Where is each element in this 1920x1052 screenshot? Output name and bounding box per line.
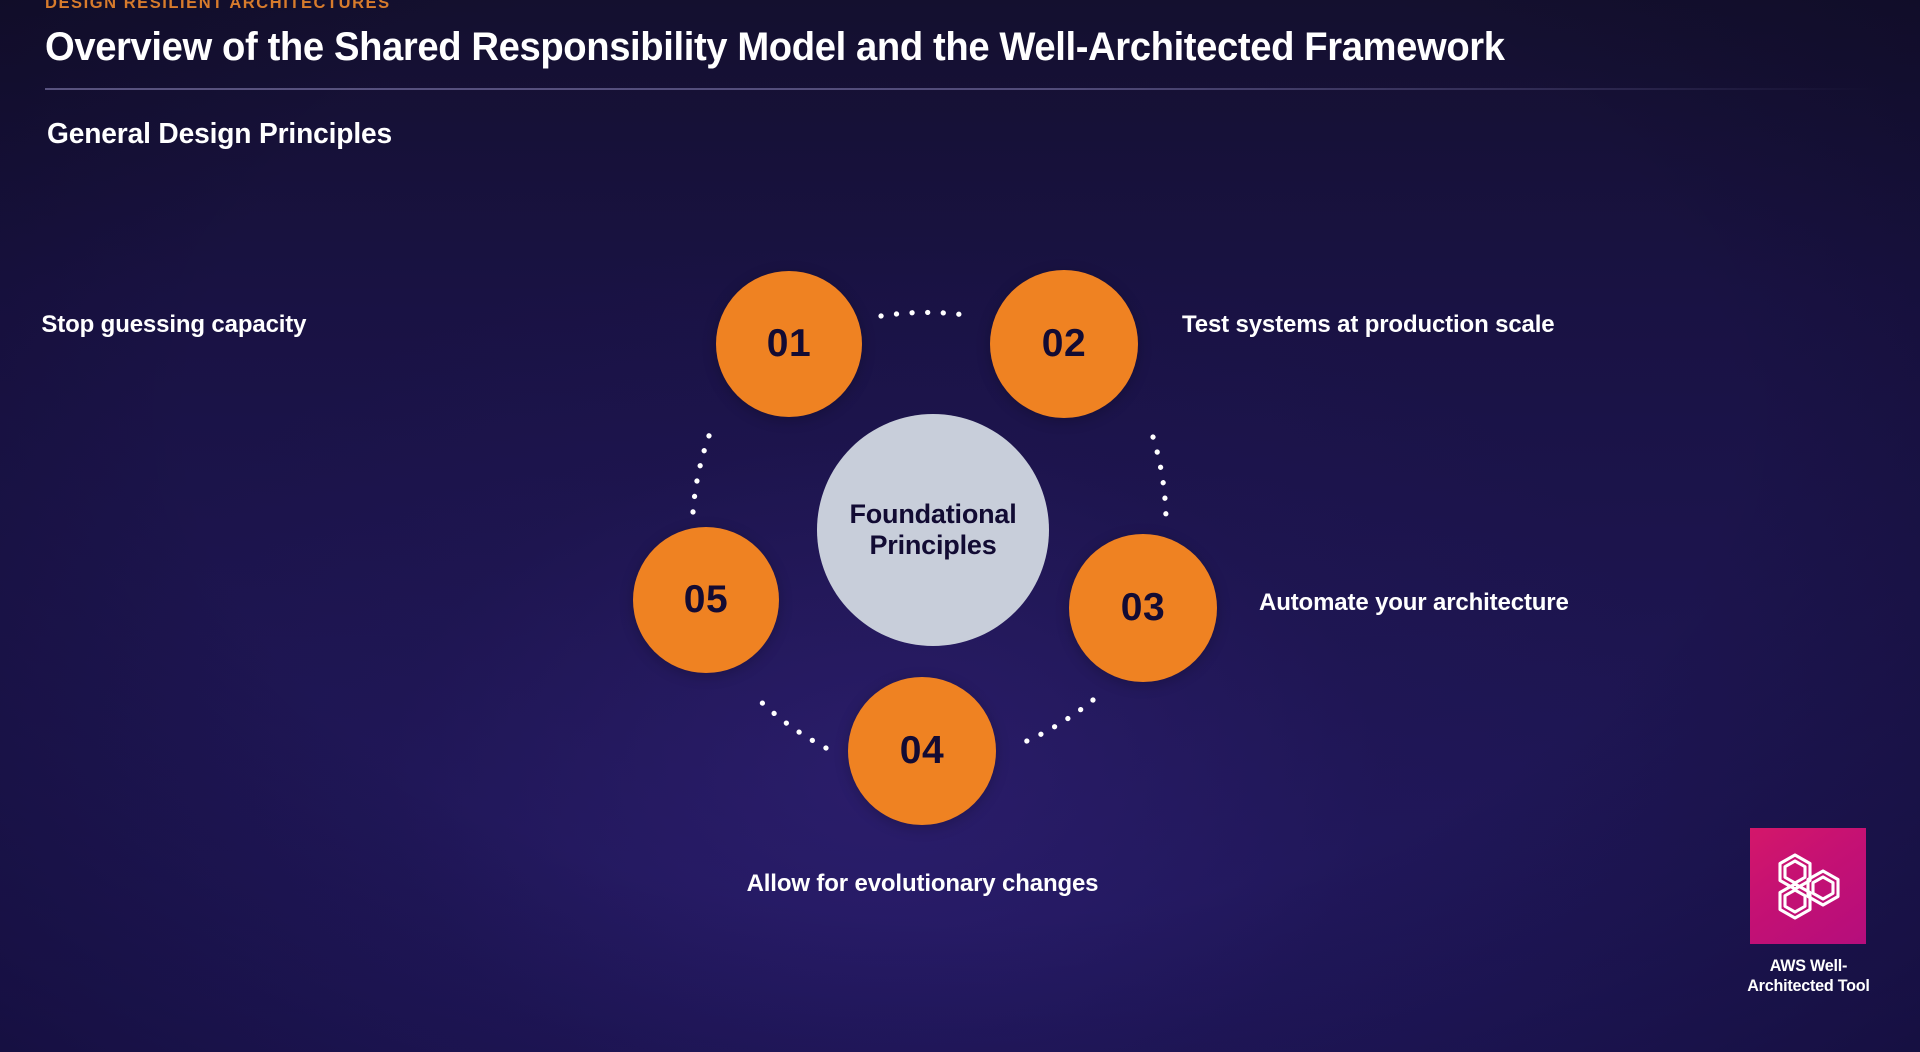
node-number-02: 02 xyxy=(1042,322,1087,366)
node-circle-01[interactable]: 01 xyxy=(716,271,862,417)
node-circle-04[interactable]: 04 xyxy=(848,677,996,825)
node-label-03: Automate your architecture xyxy=(1259,589,1569,617)
node-number-04: 04 xyxy=(900,729,945,773)
node-label-02: Test systems at production scale xyxy=(1182,311,1554,339)
foundational-principles-diagram: Foundational Principles 01 02 03 04 05 S… xyxy=(0,0,1920,1052)
node-number-01: 01 xyxy=(767,322,812,366)
center-node-foundational-principles: Foundational Principles xyxy=(817,414,1049,646)
node-number-03: 03 xyxy=(1121,586,1166,630)
aws-badge-caption: AWS Well- Architected Tool xyxy=(1747,956,1869,996)
node-label-04: Allow for evolutionary changes xyxy=(746,870,1098,898)
node-number-05: 05 xyxy=(684,578,729,622)
node-circle-03[interactable]: 03 xyxy=(1069,534,1217,682)
center-node-line-2: Principles xyxy=(869,530,996,561)
node-circle-02[interactable]: 02 xyxy=(990,270,1138,418)
node-label-01: Stop guessing capacity xyxy=(41,311,306,339)
aws-badge-caption-line-2: Architected Tool xyxy=(1747,976,1869,996)
aws-badge-caption-line-1: AWS Well- xyxy=(1747,956,1869,976)
aws-well-architected-tool-badge[interactable]: AWS Well- Architected Tool xyxy=(1703,828,1913,1028)
aws-badge-tile xyxy=(1750,828,1866,944)
node-circle-05[interactable]: 05 xyxy=(633,527,779,673)
center-node-line-1: Foundational xyxy=(849,499,1016,530)
hexagon-cluster-icon xyxy=(1769,847,1847,925)
